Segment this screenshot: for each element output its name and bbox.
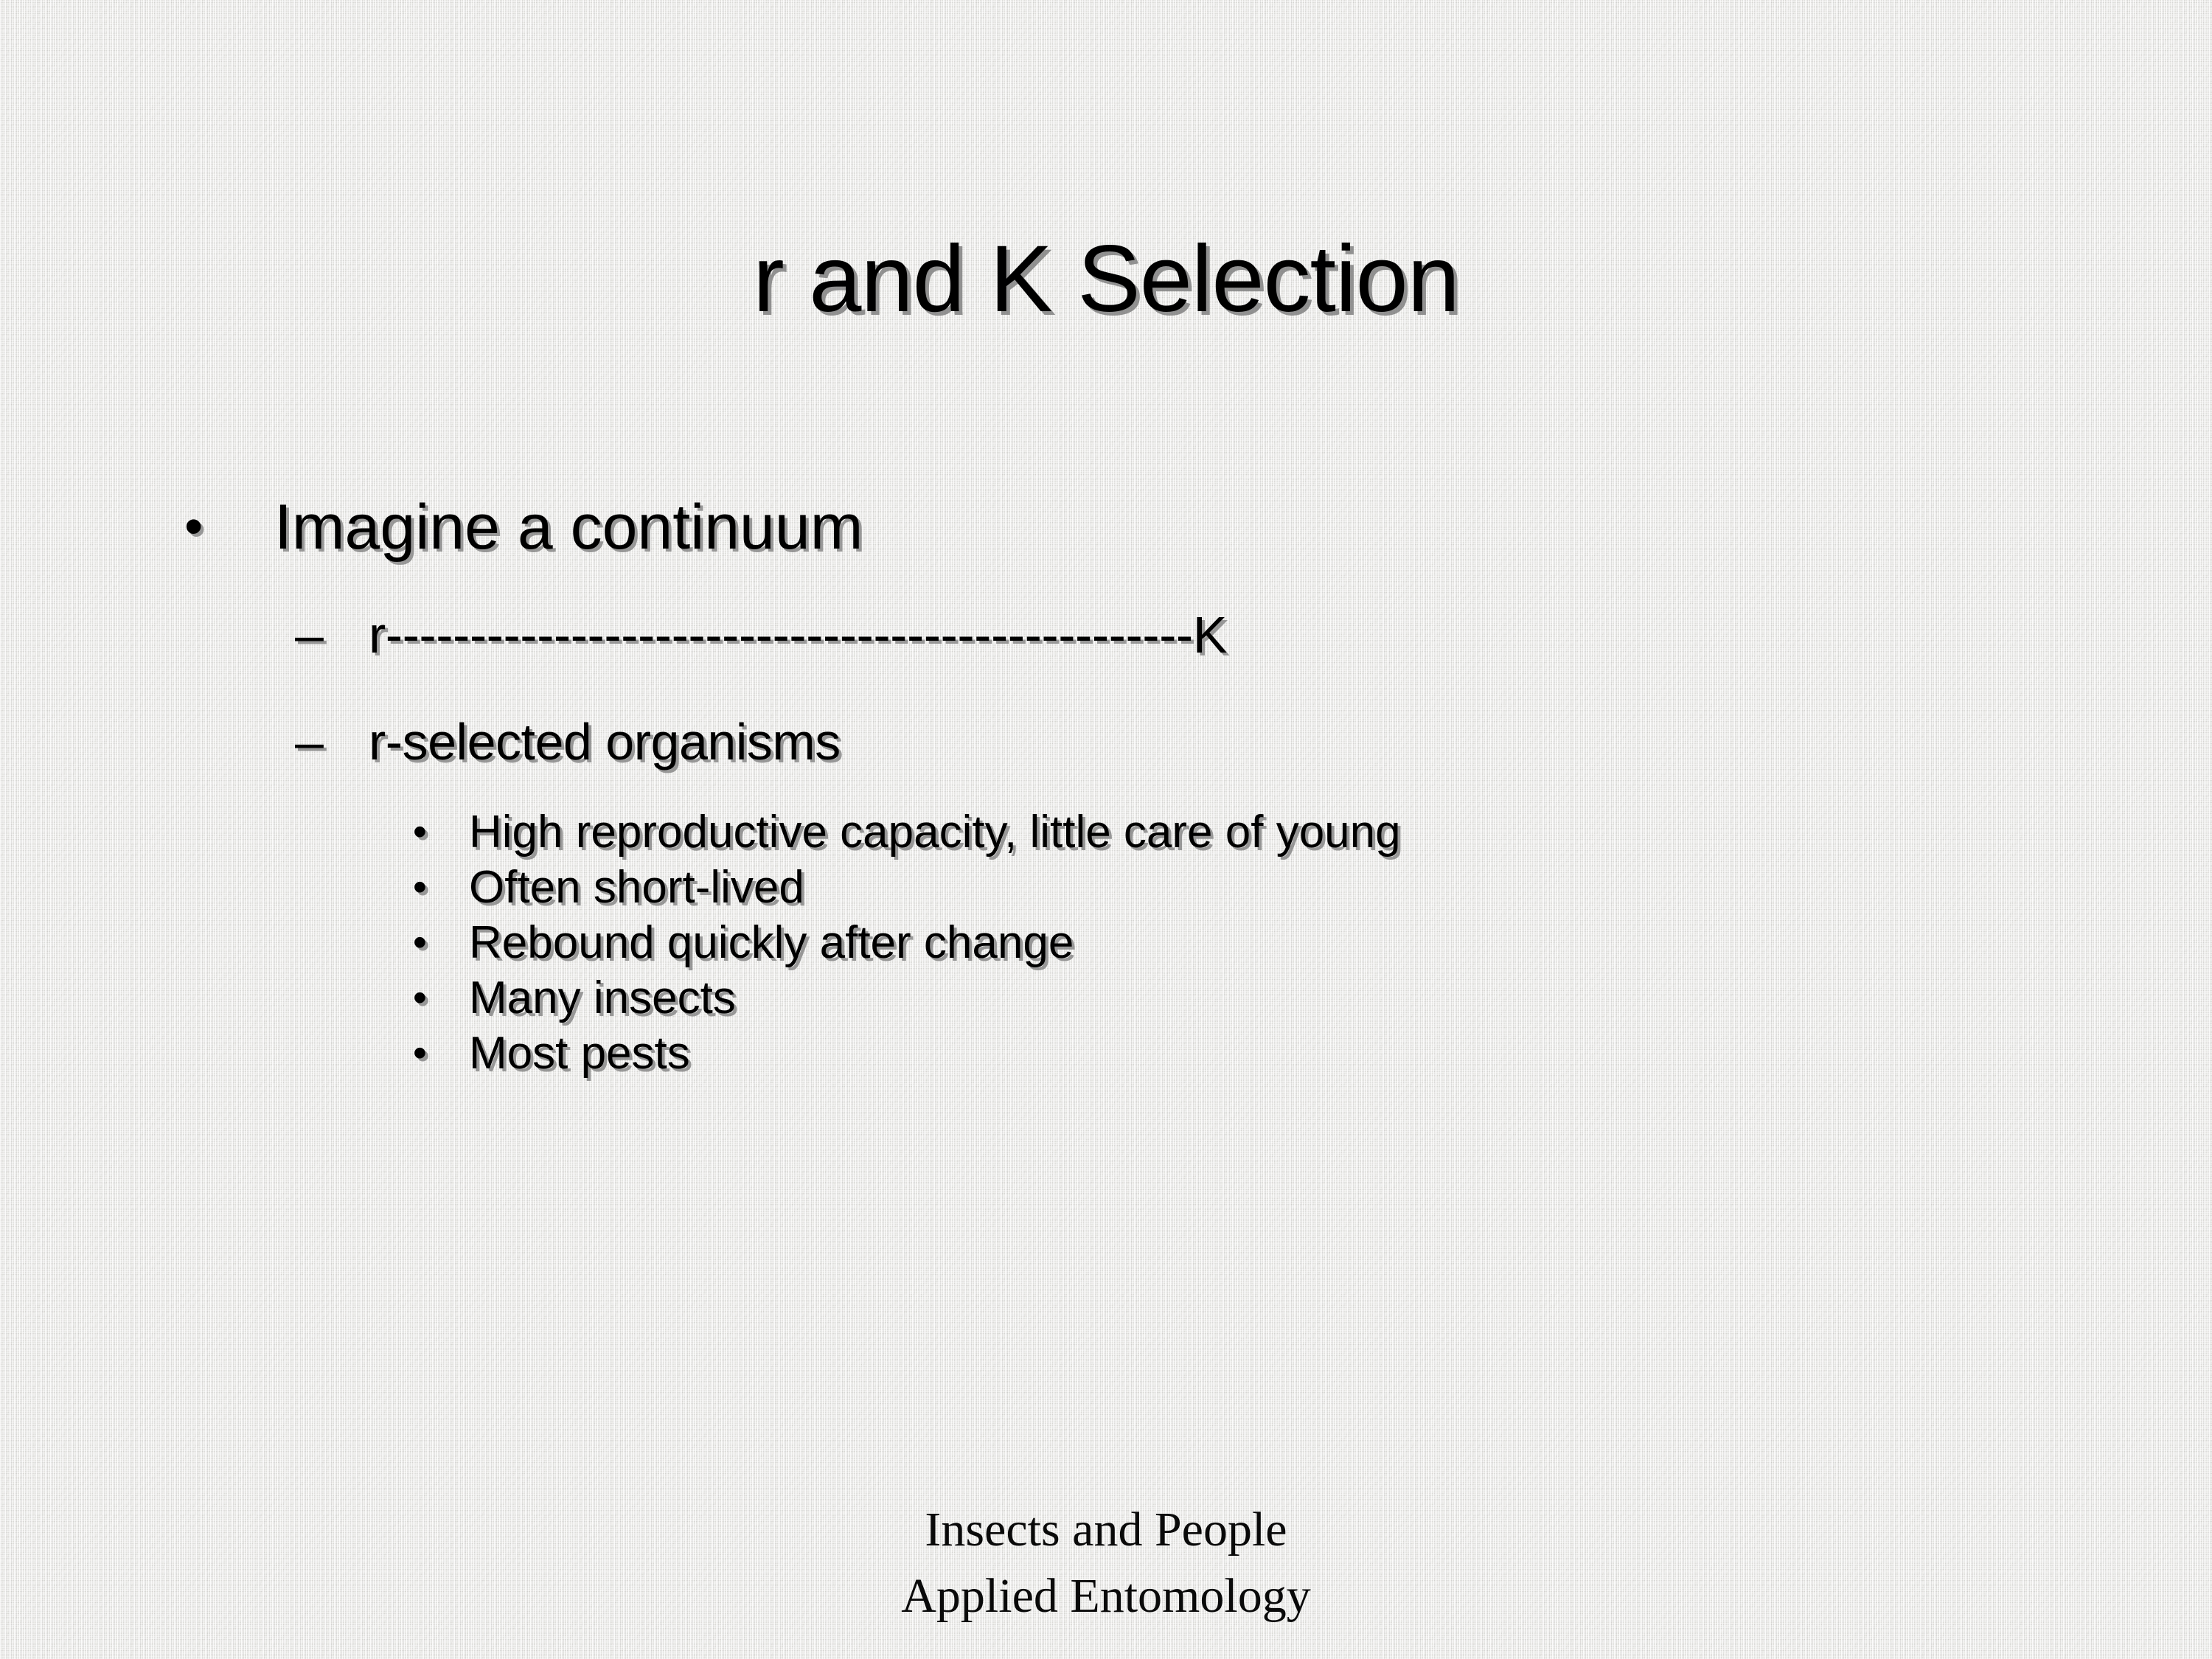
bullet-dot-icon: •	[413, 919, 469, 966]
bullet-level3-label: Many insects	[469, 975, 736, 1021]
bullet-level3-label: High reproductive capacity, little care …	[469, 809, 1401, 855]
bullet-level3-label: Most pests	[469, 1030, 690, 1077]
bullet-level3-label: Rebound quickly after change	[469, 919, 1074, 966]
bullet-dot-icon: •	[184, 495, 274, 558]
bullet-level3-rebound-quickly-after-change: • Rebound quickly after change	[413, 919, 2212, 966]
slide-content: r and K Selection • Imagine a continuum …	[0, 0, 2212, 1659]
spacer	[0, 791, 2212, 809]
bullet-level1-imagine-a-continuum: • Imagine a continuum	[184, 495, 2212, 560]
bullet-dot-icon: •	[413, 864, 469, 911]
bullet-dash-icon: –	[295, 716, 369, 768]
bullet-level2-continuum-line: – r-------------------------------------…	[295, 609, 2212, 661]
bullet-level2-r-selected-label: r-selected organisms	[369, 716, 841, 768]
bullet-level3-often-short-lived: • Often short-lived	[413, 864, 2212, 911]
bullet-level3-high-reproductive-capacity: • High reproductive capacity, little car…	[413, 809, 2212, 855]
spacer	[0, 684, 2212, 716]
bullet-level1-label: Imagine a continuum	[274, 495, 863, 560]
bullet-level3-many-insects: • Many insects	[413, 975, 2212, 1021]
bullet-level2-r-selected-organisms: – r-selected organisms	[295, 716, 2212, 768]
slide-title: r and K Selection	[0, 230, 2212, 329]
footer-line-insects-and-people: Insects and People	[0, 1498, 2212, 1562]
bullet-dot-icon: •	[413, 809, 469, 855]
bullet-dot-icon: •	[413, 975, 469, 1021]
footer-line-applied-entomology: Applied Entomology	[0, 1565, 2212, 1628]
bullet-list: • Imagine a continuum – r---------------…	[0, 495, 2212, 1086]
bullet-dash-icon: –	[295, 609, 369, 661]
bullet-level3-most-pests: • Most pests	[413, 1030, 2212, 1077]
presentation-slide: r and K Selection • Imagine a continuum …	[0, 0, 2212, 1659]
bullet-level2-continuum-label: r---------------------------------------…	[369, 609, 1227, 661]
bullet-dot-icon: •	[413, 1030, 469, 1077]
bullet-level3-label: Often short-lived	[469, 864, 804, 911]
